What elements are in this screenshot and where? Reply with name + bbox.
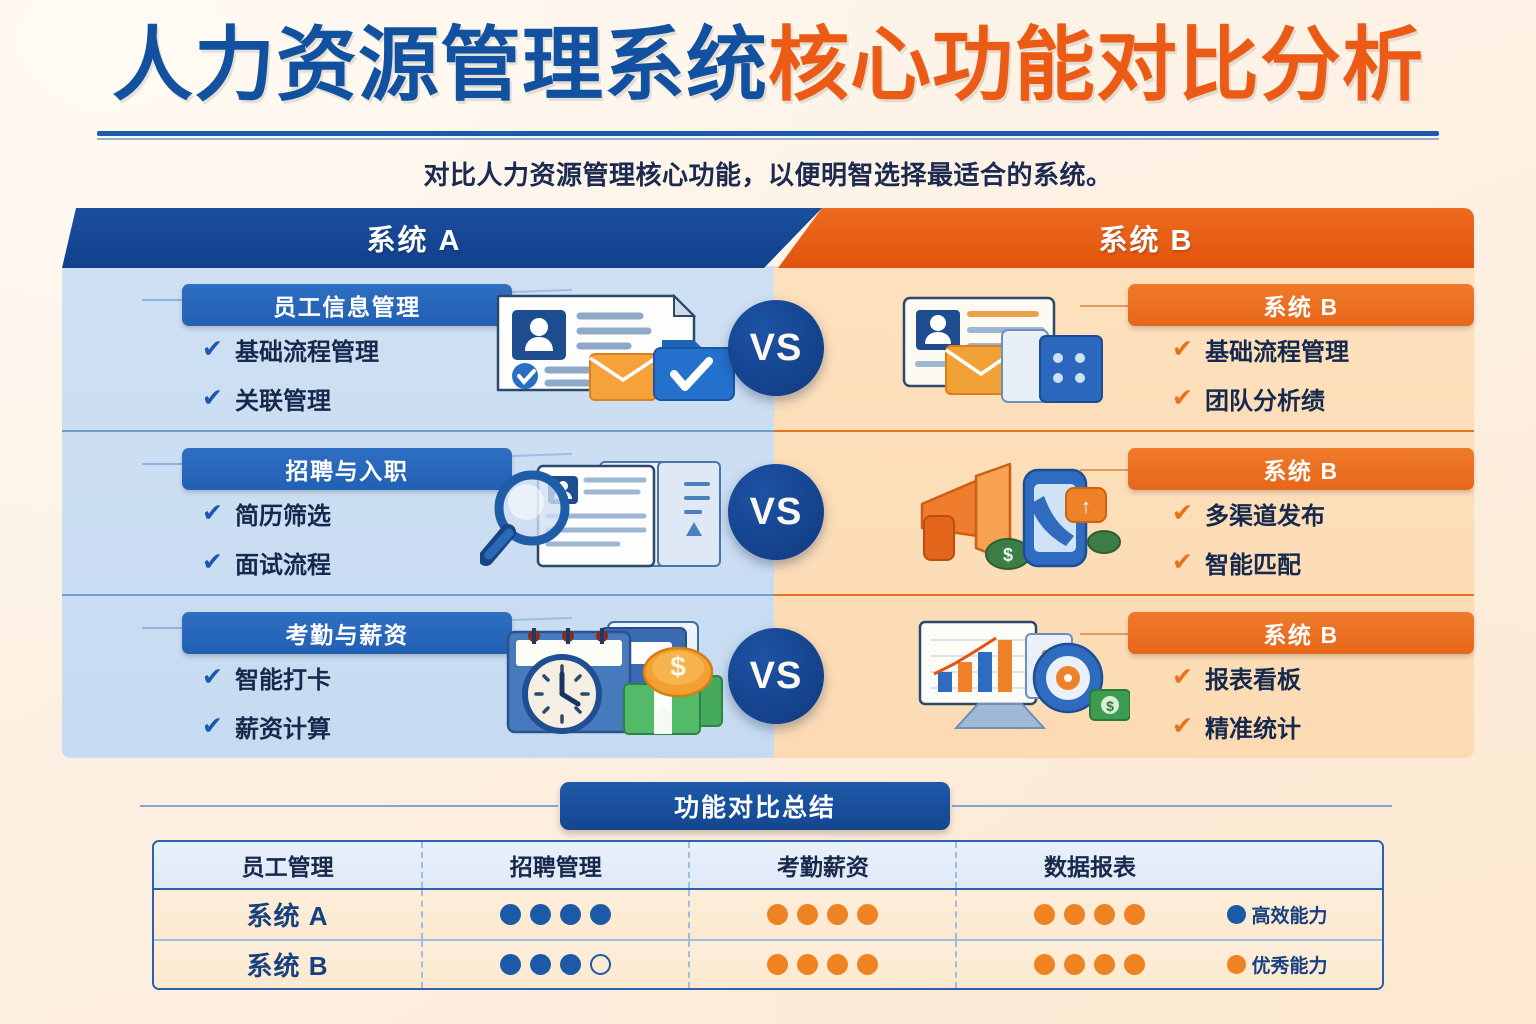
- feature-bullets-a: ✔智能打卡 ✔薪资计算: [202, 660, 331, 758]
- employee-card-icon: [494, 288, 742, 409]
- employee-card-mobile-icon: [898, 290, 1114, 413]
- feature-chip-a: 考勤与薪资: [182, 612, 512, 654]
- list-item: ✔薪资计算: [202, 709, 331, 744]
- title-divider: [97, 131, 1439, 136]
- table-header-cell: 员工管理: [154, 842, 421, 888]
- score-dot: [590, 954, 611, 975]
- score-dot: [857, 904, 878, 925]
- list-item: ✔报表看板: [1172, 660, 1301, 695]
- score-dot: [797, 954, 818, 975]
- score-dot: [500, 904, 521, 925]
- calendar-clock-money-icon: $: [500, 614, 730, 745]
- list-item: ✔智能打卡: [202, 660, 331, 695]
- score-dot: [767, 904, 788, 925]
- score-dot: [1094, 954, 1115, 975]
- score-dot: [560, 904, 581, 925]
- feature-bullets-a: ✔简历筛选 ✔面试流程: [202, 496, 331, 594]
- feature-bullets-a: ✔基础流程管理 ✔关联管理: [202, 332, 379, 430]
- legend-item: 优秀能力: [1223, 941, 1382, 988]
- summary-divider-left: [140, 805, 558, 807]
- table-cell-system: 系统 B: [154, 941, 421, 988]
- list-item: ✔基础流程管理: [1172, 332, 1349, 367]
- title-part-orange: 核心功能对比分析: [768, 21, 1424, 111]
- score-dot: [500, 954, 521, 975]
- header-system-a: 系统 A: [62, 208, 822, 268]
- check-icon: ✔: [202, 665, 223, 690]
- feature-chip-b: 系统 B: [1128, 448, 1474, 490]
- score-dot: [767, 954, 788, 975]
- feature-bullets-b: ✔基础流程管理 ✔团队分析绩: [1172, 332, 1349, 430]
- dashboard-chart-target-icon: $: [914, 616, 1130, 739]
- score-dots: [767, 904, 878, 925]
- svg-text:$: $: [670, 651, 686, 682]
- page-title: 人力资源管理系统核心功能对比分析: [0, 24, 1536, 108]
- score-dot: [1064, 904, 1085, 925]
- list-item: ✔基础流程管理: [202, 332, 379, 367]
- feature-chip-a: 招聘与入职: [182, 448, 512, 490]
- table-cell-score: [955, 890, 1222, 939]
- svg-text:$: $: [1106, 698, 1114, 714]
- check-icon: ✔: [202, 501, 223, 526]
- list-item: ✔团队分析绩: [1172, 381, 1349, 416]
- vs-badge: VS: [728, 464, 824, 560]
- score-dot: [1034, 904, 1055, 925]
- list-item: ✔精准统计: [1172, 709, 1301, 744]
- check-icon: ✔: [1172, 550, 1193, 575]
- title-part-blue: 人力资源管理系统: [112, 21, 768, 111]
- table-cell-score: [688, 890, 955, 939]
- feature-bullets-b: ✔报表看板 ✔精准统计: [1172, 660, 1301, 758]
- page-subtitle: 对比人力资源管理核心功能，以便明智选择最适合的系统。: [0, 155, 1536, 192]
- legend-item: 高效能力: [1223, 890, 1382, 939]
- svg-text:↑: ↑: [1081, 496, 1091, 518]
- table-cell-system: 系统 A: [154, 890, 421, 939]
- check-icon: ✔: [202, 550, 223, 575]
- score-dots: [767, 954, 878, 975]
- score-dots: [500, 954, 611, 975]
- score-dot: [530, 904, 551, 925]
- comparison-board: 系统 A 系统 B 员工信息管理 ✔基础流程管理 ✔关联管理 系统 B ✔基础流…: [62, 208, 1474, 758]
- svg-text:$: $: [1003, 545, 1013, 565]
- score-dot: [1064, 954, 1085, 975]
- list-item: ✔面试流程: [202, 545, 331, 580]
- table-header-cell: 数据报表: [955, 842, 1222, 888]
- score-dot: [590, 904, 611, 925]
- list-item: ✔智能匹配: [1172, 545, 1325, 580]
- check-icon: ✔: [202, 337, 223, 362]
- table-header-cell: 招聘管理: [421, 842, 688, 888]
- vs-badge: VS: [728, 300, 824, 396]
- megaphone-phone-icon: $ ↑: [908, 458, 1124, 581]
- table-row: 系统 B 优秀能力: [154, 939, 1382, 988]
- check-icon: ✔: [202, 386, 223, 411]
- summary-table: 员工管理 招聘管理 考勤薪资 数据报表 系统 A 高效能力 系统 B 优秀能力: [152, 840, 1384, 990]
- table-header-cell: 考勤薪资: [688, 842, 955, 888]
- score-dots: [1034, 954, 1145, 975]
- check-icon: ✔: [1172, 665, 1193, 690]
- feature-bullets-b: ✔多渠道发布 ✔智能匹配: [1172, 496, 1325, 594]
- score-dot: [1094, 904, 1115, 925]
- table-cell-score: [688, 941, 955, 988]
- score-dots: [500, 904, 611, 925]
- list-item: ✔多渠道发布: [1172, 496, 1325, 531]
- feature-chip-b: 系统 B: [1128, 284, 1474, 326]
- check-icon: ✔: [202, 714, 223, 739]
- summary-divider-right: [952, 805, 1392, 807]
- legend-dot-orange: [1227, 955, 1246, 974]
- table-cell-score: [955, 941, 1222, 988]
- table-header-row: 员工管理 招聘管理 考勤薪资 数据报表: [154, 842, 1382, 890]
- score-dot: [827, 904, 848, 925]
- score-dot: [857, 954, 878, 975]
- score-dot: [797, 904, 818, 925]
- table-row: 系统 A 高效能力: [154, 890, 1382, 939]
- check-icon: ✔: [1172, 714, 1193, 739]
- table-cell-score: [421, 941, 688, 988]
- score-dots: [1034, 904, 1145, 925]
- feature-chip-a: 员工信息管理: [182, 284, 512, 326]
- score-dot: [827, 954, 848, 975]
- score-dot: [1124, 954, 1145, 975]
- list-item: ✔关联管理: [202, 381, 379, 416]
- legend-dot-blue: [1227, 905, 1246, 924]
- check-icon: ✔: [1172, 501, 1193, 526]
- check-icon: ✔: [1172, 386, 1193, 411]
- header-system-b: 系统 B: [778, 208, 1474, 268]
- table-header-cell: [1223, 842, 1382, 888]
- vs-badge: VS: [728, 628, 824, 724]
- feature-chip-b: 系统 B: [1128, 612, 1474, 654]
- score-dot: [1124, 904, 1145, 925]
- resume-search-icon: [480, 454, 734, 583]
- score-dot: [530, 954, 551, 975]
- summary-title: 功能对比总结: [560, 782, 950, 830]
- score-dot: [560, 954, 581, 975]
- table-cell-score: [421, 890, 688, 939]
- score-dot: [1034, 954, 1055, 975]
- list-item: ✔简历筛选: [202, 496, 331, 531]
- check-icon: ✔: [1172, 337, 1193, 362]
